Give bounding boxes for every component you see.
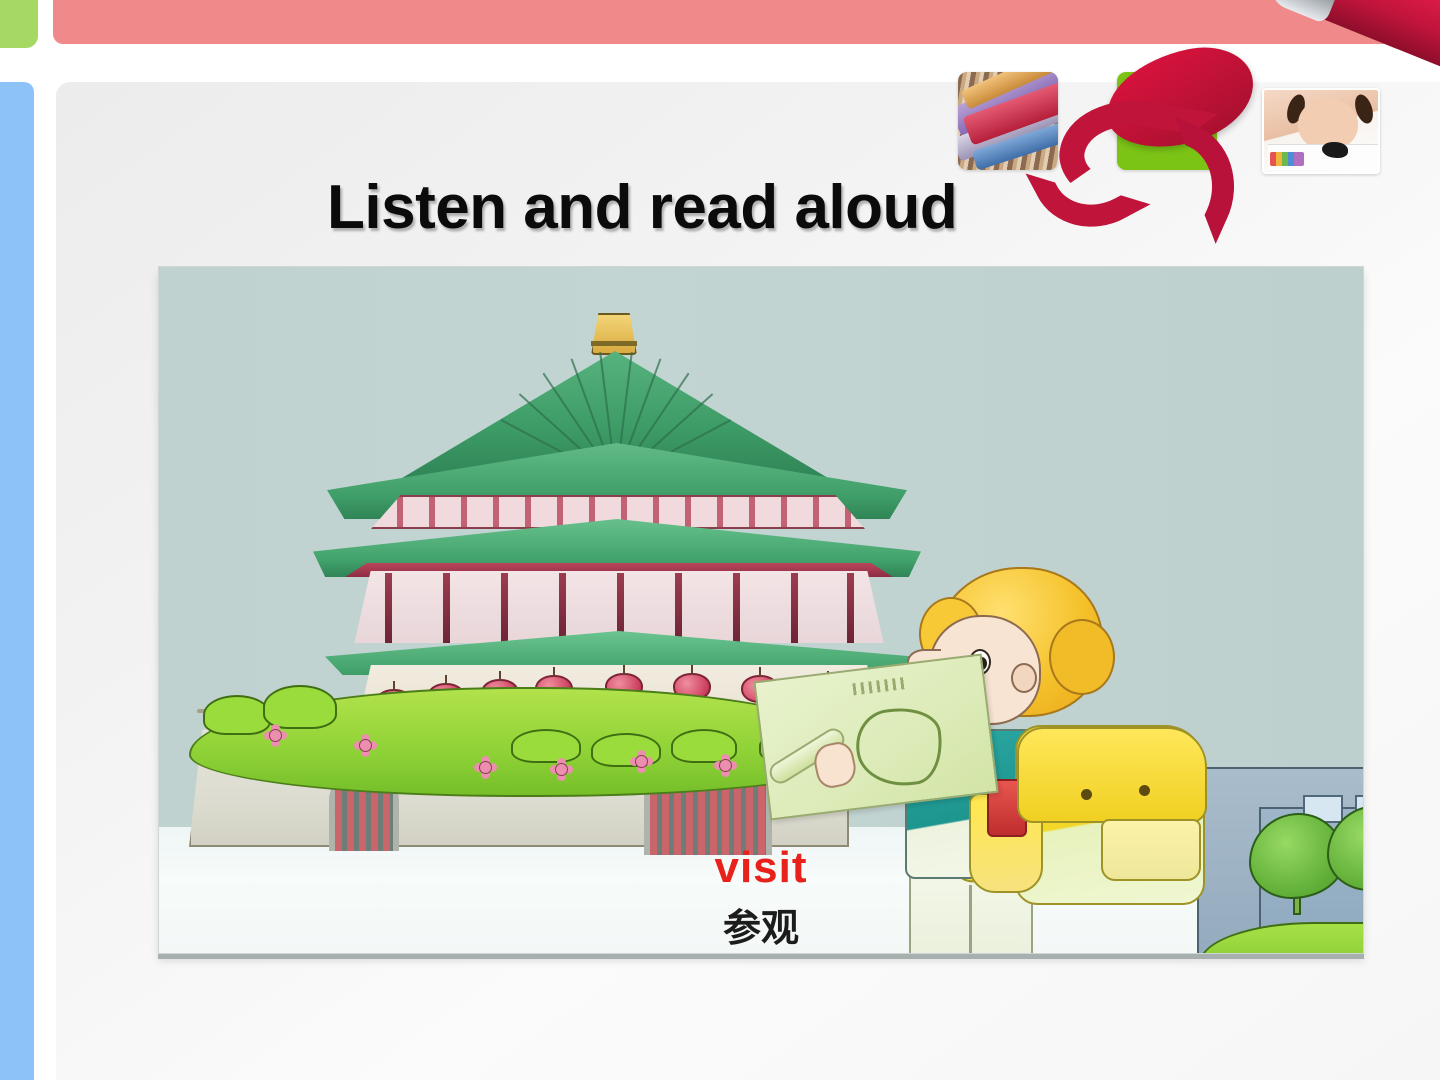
bush-5 — [671, 729, 737, 763]
accent-bar-blue — [0, 82, 34, 1080]
backpack-flap — [1017, 727, 1207, 823]
slide-root: Listen and read aloud — [0, 0, 1440, 1080]
flower-1 — [269, 729, 282, 742]
boy-ear — [1011, 663, 1037, 693]
roof-finial-icon — [591, 313, 637, 355]
flower-6 — [719, 759, 732, 772]
finial-band — [591, 341, 637, 346]
bush-4 — [591, 733, 661, 767]
child-drawing-thumbnail — [1262, 88, 1380, 174]
flower-4 — [555, 763, 568, 776]
accent-block-green — [0, 0, 38, 48]
vocabulary-illustration[interactable]: visit 参观 — [158, 266, 1364, 954]
bush-2 — [263, 685, 337, 729]
page-title: Listen and read aloud — [327, 172, 957, 243]
caption-chinese: 参观 — [159, 897, 1363, 952]
flower-2 — [359, 739, 372, 752]
flower-5 — [635, 755, 648, 768]
paint-palette-icon — [1270, 152, 1304, 166]
caption-english: visit — [159, 843, 1363, 893]
crayon-orange-icon — [961, 72, 1058, 110]
map-text-marks — [852, 677, 907, 695]
bush-3 — [511, 729, 581, 763]
backpack-stud-right — [1139, 785, 1150, 796]
map-sheet — [753, 654, 998, 821]
map-region-outline — [852, 703, 947, 791]
caption-group: visit 参观 — [159, 843, 1363, 952]
backpack-stud-left — [1081, 789, 1092, 800]
ink-blot-icon — [1322, 142, 1348, 158]
bush-1 — [203, 695, 271, 735]
crayons-thumbnail — [958, 72, 1058, 170]
flower-3 — [479, 761, 492, 774]
